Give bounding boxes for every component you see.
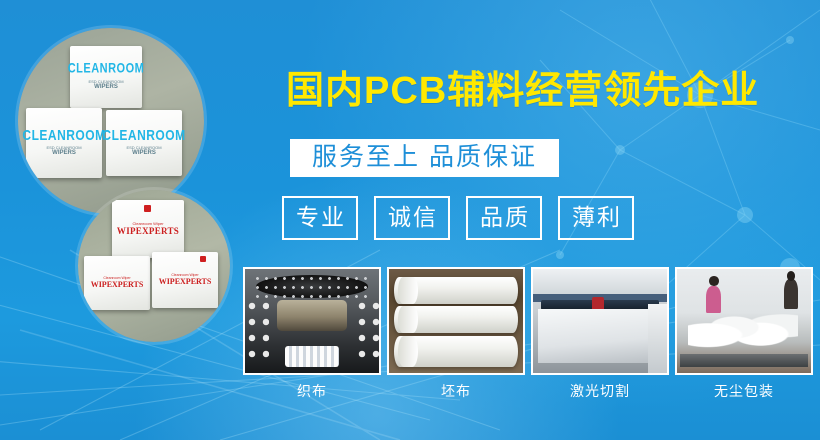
process-thumb-packing[interactable] xyxy=(675,267,813,375)
laser-cutter-image xyxy=(533,269,667,373)
product-photo-cleanroom: CLEANROOM ESD CLEANROOM WIPERS CLEANROOM… xyxy=(18,28,204,214)
keyword-box-pinzhi[interactable]: 品质 xyxy=(466,196,542,240)
pack-brand-label: WIPEXPERTS xyxy=(91,280,144,289)
cleanroom-packing-image xyxy=(677,269,811,373)
wipe-pack: CLEANROOM ESD CLEANROOM WIPERS xyxy=(106,110,182,176)
process-item-packing[interactable]: 无尘包装 xyxy=(675,267,813,398)
red-stamp-icon xyxy=(144,205,151,212)
wipexperts-pack: Cleanroom Wiper WIPEXPERTS xyxy=(84,256,150,310)
subtitle-bar: 服务至上 品质保证 xyxy=(290,139,559,177)
product-photo-wipexperts: Cleanroom Wiper WIPEXPERTS Cleanroom Wip… xyxy=(78,190,230,342)
pack-brand-label: CLEANROOM xyxy=(68,62,145,76)
pack-brand-label: CLEANROOM xyxy=(22,128,105,143)
keyword-box-zhuanye[interactable]: 专业 xyxy=(282,196,358,240)
process-item-weaving[interactable]: 织布 xyxy=(243,267,381,398)
cleanroom-wipes-scene: CLEANROOM ESD CLEANROOM WIPERS CLEANROOM… xyxy=(18,28,204,214)
knitting-machine-image xyxy=(245,269,379,373)
process-caption: 激光切割 xyxy=(531,384,669,398)
process-caption: 坯布 xyxy=(387,384,525,398)
fabric-rolls-image xyxy=(389,269,523,373)
process-thumb-greige[interactable] xyxy=(387,267,525,375)
subtitle-text: 服务至上 品质保证 xyxy=(312,145,537,170)
keyword-box-chengxin[interactable]: 诚信 xyxy=(374,196,450,240)
pack-line3: WIPERS xyxy=(52,150,76,157)
wipexperts-pack: Cleanroom Wiper WIPEXPERTS xyxy=(152,252,218,308)
pack-line3: WIPERS xyxy=(94,84,118,91)
wipexperts-scene: Cleanroom Wiper WIPEXPERTS Cleanroom Wip… xyxy=(78,190,230,342)
wipe-pack: CLEANROOM ESD CLEANROOM WIPERS xyxy=(26,108,102,178)
process-caption: 织布 xyxy=(243,384,381,398)
process-thumb-weaving[interactable] xyxy=(243,267,381,375)
banner-headline: 国内PCB辅料经营领先企业 xyxy=(286,72,759,110)
pack-brand-label: WIPEXPERTS xyxy=(117,226,179,236)
process-photo-strip: 织布 坯布 xyxy=(243,267,813,398)
pack-line3: WIPERS xyxy=(132,150,156,157)
wipe-pack: CLEANROOM ESD CLEANROOM WIPERS xyxy=(70,46,142,108)
keyword-box-baoli[interactable]: 薄利 xyxy=(558,196,634,240)
pack-brand-label: CLEANROOM xyxy=(102,128,185,143)
red-stamp-icon xyxy=(200,256,206,262)
keyword-list: 专业 诚信 品质 薄利 xyxy=(282,196,634,240)
wipexperts-pack: Cleanroom Wiper WIPEXPERTS xyxy=(112,200,184,258)
promo-banner: CLEANROOM ESD CLEANROOM WIPERS CLEANROOM… xyxy=(0,0,820,440)
process-caption: 无尘包装 xyxy=(675,384,813,398)
pack-brand-label: WIPEXPERTS xyxy=(159,277,212,286)
process-thumb-laser[interactable] xyxy=(531,267,669,375)
process-item-laser[interactable]: 激光切割 xyxy=(531,267,669,398)
process-item-greige[interactable]: 坯布 xyxy=(387,267,525,398)
